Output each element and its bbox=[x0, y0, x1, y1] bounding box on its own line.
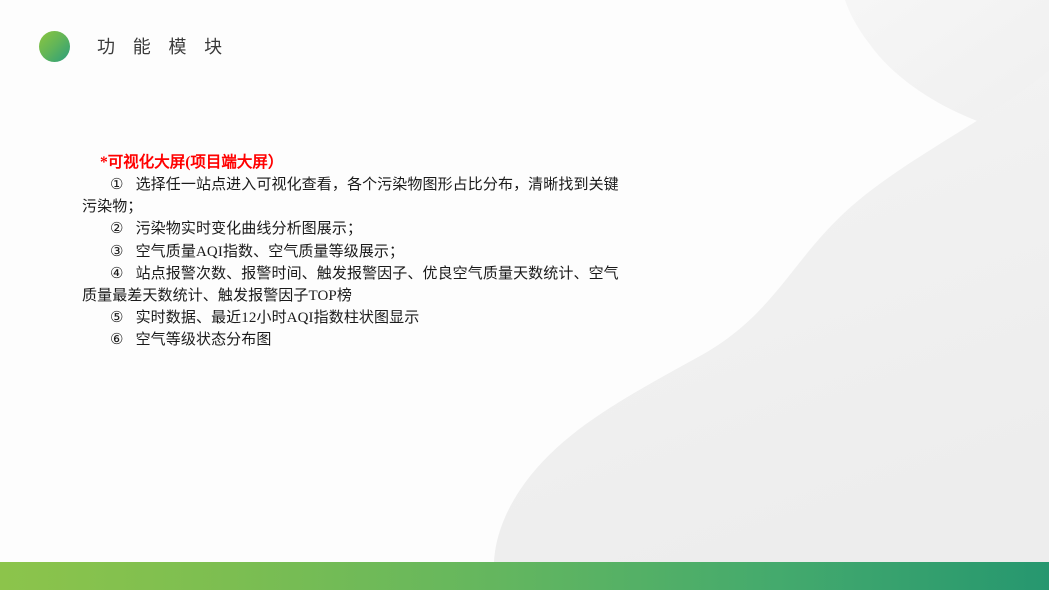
list-item-marker: ④ bbox=[110, 266, 124, 282]
content-heading: *可视化大屏(项目端大屏） bbox=[100, 152, 622, 174]
list-item-text: 站点报警次数、报警时间、触发报警因子、优良空气质量天数统计、空气质量最差天数统计… bbox=[82, 266, 619, 304]
list-item: ①选择任一站点进入可视化查看，各个污染物图形占比分布，清晰找到关键污染物； bbox=[82, 174, 622, 218]
slide-canvas: 功 能 模 块 *可视化大屏(项目端大屏） ①选择任一站点进入可视化查看，各个污… bbox=[0, 0, 1049, 590]
list-item: ②污染物实时变化曲线分析图展示； bbox=[82, 218, 622, 240]
content-block: *可视化大屏(项目端大屏） ①选择任一站点进入可视化查看，各个污染物图形占比分布… bbox=[82, 152, 622, 352]
list-item-text: 空气等级状态分布图 bbox=[136, 332, 272, 348]
list-item-text: 污染物实时变化曲线分析图展示； bbox=[136, 221, 363, 237]
page-title: 功 能 模 块 bbox=[97, 39, 228, 57]
list-item: ③空气质量AQI指数、空气质量等级展示； bbox=[82, 241, 622, 263]
list-item-marker: ② bbox=[110, 221, 124, 237]
list-item-text: 选择任一站点进入可视化查看，各个污染物图形占比分布，清晰找到关键污染物； bbox=[82, 177, 619, 215]
list-item: ④站点报警次数、报警时间、触发报警因子、优良空气质量天数统计、空气质量最差天数统… bbox=[82, 263, 622, 307]
list-item-marker: ① bbox=[110, 177, 124, 193]
list-item-marker: ⑥ bbox=[110, 332, 124, 348]
footer-gradient-bar bbox=[0, 562, 1049, 590]
top-right-curve-shape bbox=[845, 0, 1049, 140]
list-item-text: 空气质量AQI指数、空气质量等级展示； bbox=[136, 244, 405, 260]
list-item-marker: ⑤ bbox=[110, 310, 124, 326]
header-bullet-wrap bbox=[39, 31, 73, 65]
list-item-marker: ③ bbox=[110, 244, 124, 260]
slide-header: 功 能 模 块 bbox=[39, 31, 228, 65]
list-item-text: 实时数据、最近12小时AQI指数柱状图显示 bbox=[136, 310, 420, 326]
green-gradient-circle-icon bbox=[39, 31, 70, 62]
list-item: ⑥空气等级状态分布图 bbox=[82, 329, 622, 351]
list-item: ⑤实时数据、最近12小时AQI指数柱状图显示 bbox=[82, 307, 622, 329]
